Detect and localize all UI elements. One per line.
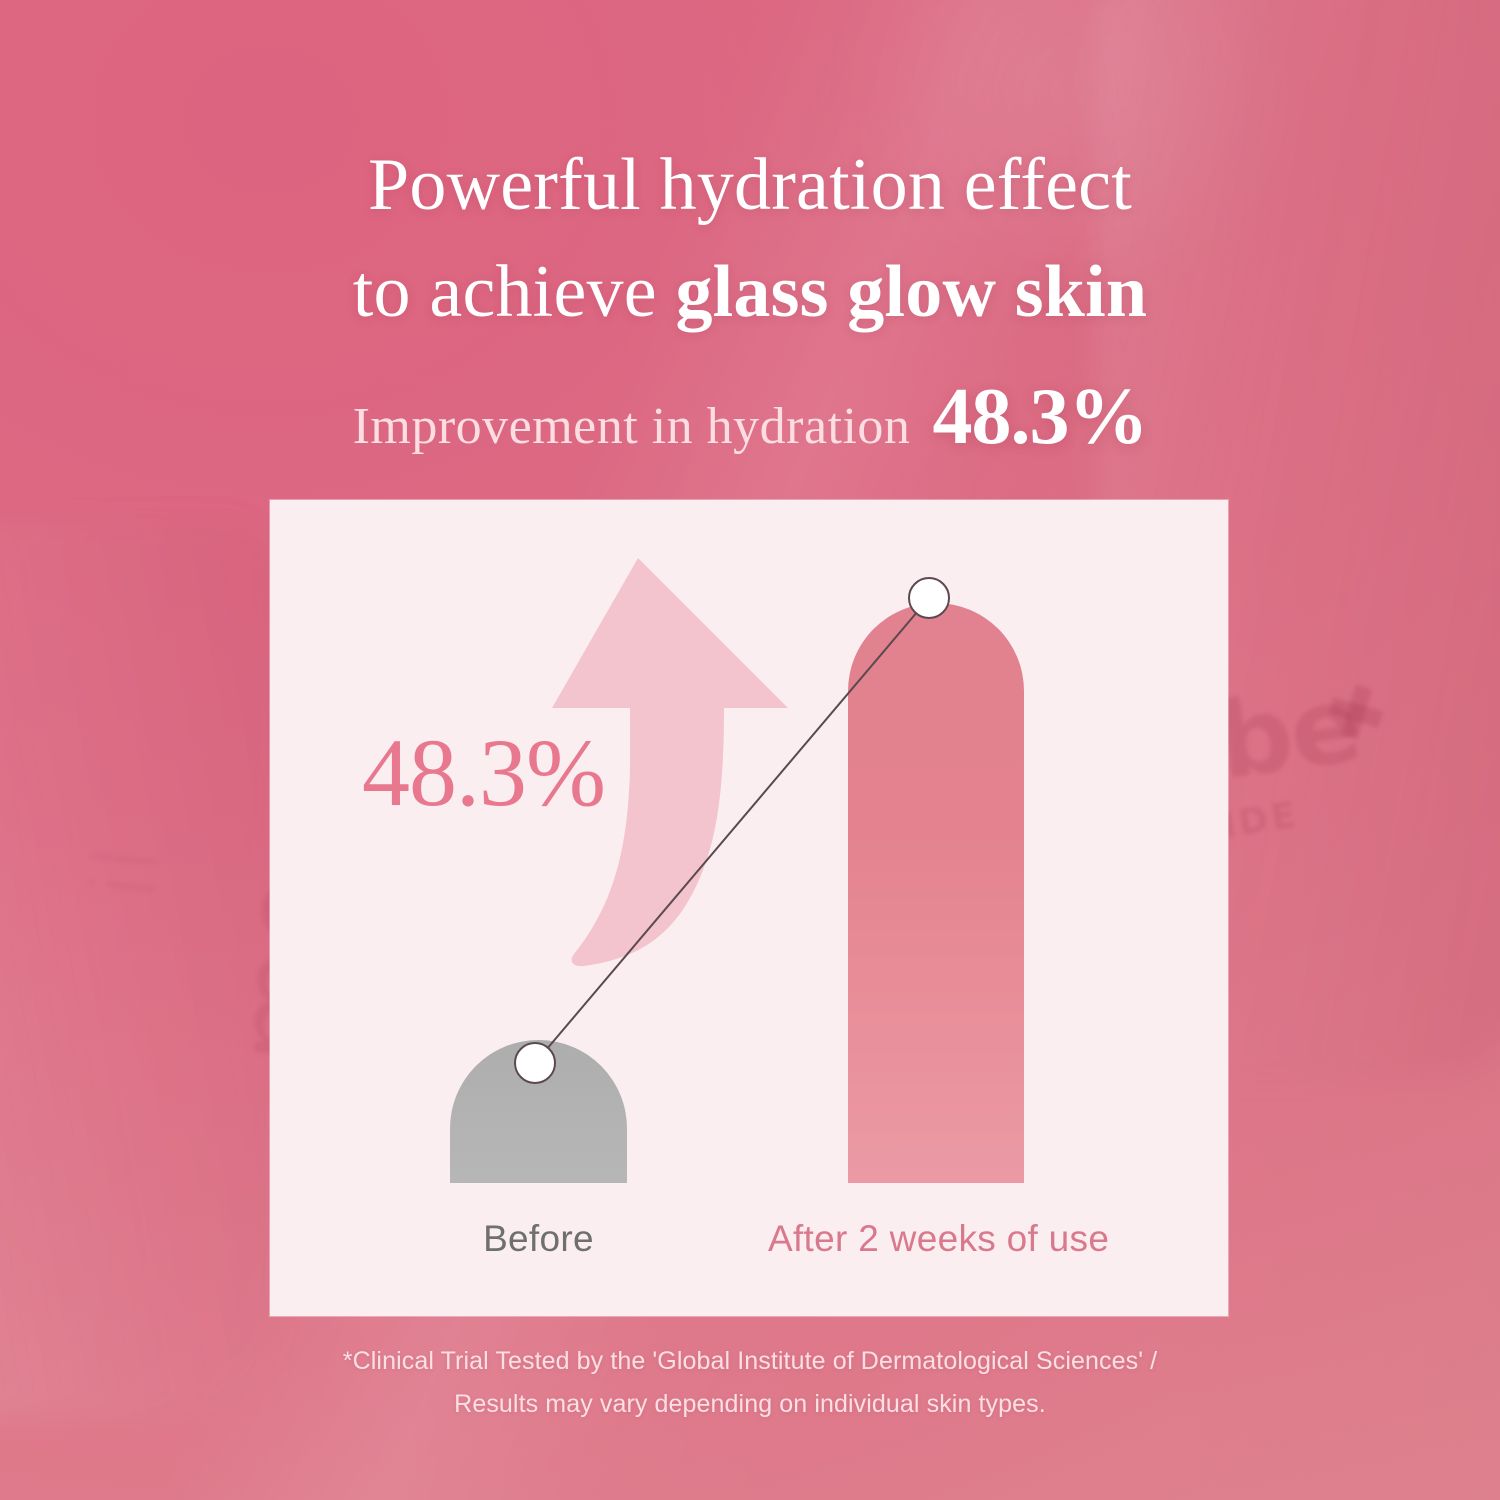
bar-label-before: Before [450,1218,627,1260]
subheading: Improvement in hydration48.3% [0,372,1500,463]
headline-line-2-prefix: to achieve [353,251,676,333]
footnote: *Clinical Trial Tested by the 'Global In… [0,1340,1500,1426]
chart-panel: 48.3% Before After 2 weeks of use [270,500,1228,1316]
chart-area: 48.3% Before After 2 weeks of use [270,500,1228,1316]
data-point-marker-before [514,1042,556,1084]
subheading-value: 48.3% [932,373,1147,461]
headline-line-2: to achieve glass glow skin [0,239,1500,346]
trend-connector-line [270,500,1228,1316]
headline-line-1: Powerful hydration effect [0,132,1500,239]
page-title: Powerful hydration effect to achieve gla… [0,132,1500,345]
background-left-text-1: il [72,840,180,903]
footnote-line-2: Results may vary depending on individual… [0,1383,1500,1426]
bar-label-after: After 2 weeks of use [768,1218,1104,1260]
subheading-label: Improvement in hydration [353,398,911,455]
headline-line-2-emphasis: glass glow skin [675,251,1147,333]
data-point-marker-after [908,577,950,619]
footnote-line-1: *Clinical Trial Tested by the 'Global In… [0,1340,1500,1383]
promo-infographic: be IDE il me Powerful hydration effect t… [0,0,1500,1500]
